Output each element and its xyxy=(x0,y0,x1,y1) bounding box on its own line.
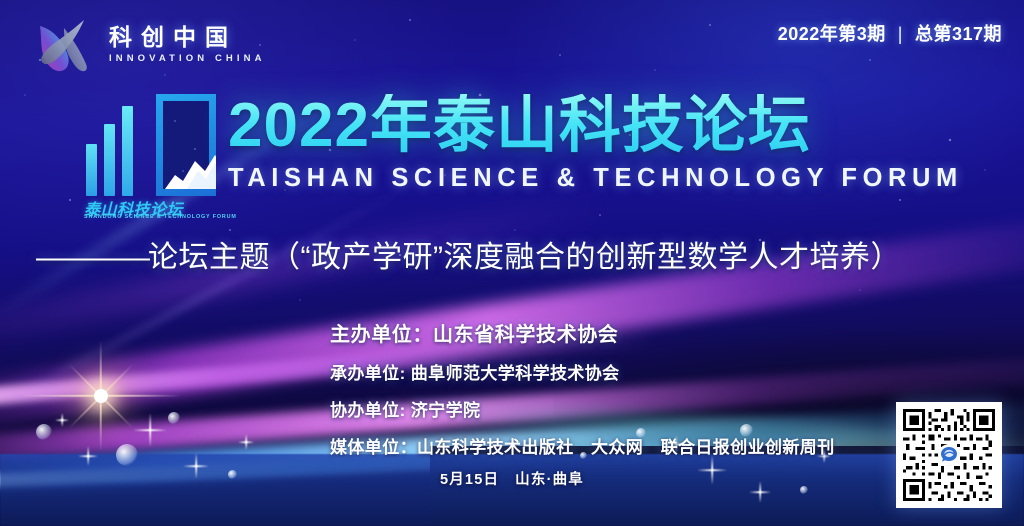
taishan-forum-emblem-icon: 泰山科技论坛 SHANDONG SCIENCE & TECHNOLOGY FOR… xyxy=(78,92,218,218)
reflective-water-base xyxy=(0,454,1024,526)
qr-code-image[interactable] xyxy=(903,409,995,501)
title-text-column: 2022年泰山科技论坛 TAISHAN SCIENCE & TECHNOLOGY… xyxy=(228,92,963,193)
organizer-undertaker: 承办单位: 曲阜师范大学科学技术协会 xyxy=(330,359,835,384)
starburst-glow xyxy=(100,395,101,396)
title-block: 泰山科技论坛 SHANDONG SCIENCE & TECHNOLOGY FOR… xyxy=(78,92,963,218)
qr-center-logo-icon xyxy=(938,444,960,466)
event-date: 5月15日 xyxy=(440,472,499,488)
forum-theme: ————论坛主题（“政产学研”深度融合的创新型数学人才培养） xyxy=(36,232,901,276)
innovation-china-wordmark: 科创中国 INNOVATION CHINA xyxy=(109,26,266,64)
innovation-china-logo: 科创中国 INNOVATION CHINA xyxy=(34,16,266,74)
theme-dash: ———— xyxy=(36,241,148,274)
organizer-list: 主办单位：山东省科学技术协会 承办单位: 曲阜师范大学科学技术协会 协办单位: … xyxy=(330,318,835,458)
bokeh-dot xyxy=(168,412,180,424)
innovation-china-mark-icon xyxy=(34,16,96,74)
innovation-china-cn: 科创中国 xyxy=(109,26,266,49)
innovation-china-en: INNOVATION CHINA xyxy=(109,54,266,64)
issue-separator: | xyxy=(898,24,903,45)
organizer-host: 主办单位：山东省科学技术协会 xyxy=(330,318,835,347)
emblem-bars xyxy=(86,100,133,196)
theme-text: 论坛主题（“政产学研”深度融合的创新型数学人才培养） xyxy=(148,241,901,274)
poster-canvas: 2022年第3期|总第317期 科创中国 INNOVATION CH xyxy=(0,0,1024,526)
emblem-name-en: SHANDONG SCIENCE & TECHNOLOGY FORUM xyxy=(84,214,237,220)
event-location: 山东·曲阜 xyxy=(515,472,584,488)
event-footer: 5月15日山东·曲阜 xyxy=(0,468,1024,489)
organizer-co-organizer: 协办单位: 济宁学院 xyxy=(330,396,835,421)
bokeh-dot xyxy=(36,424,52,440)
emblem-window xyxy=(156,94,216,196)
issue-number: 2022年第3期|总第317期 xyxy=(778,20,1002,46)
page-title-cn: 2022年泰山科技论坛 xyxy=(228,94,963,157)
issue-period: 2022年第3期 xyxy=(778,24,886,44)
page-title-en: TAISHAN SCIENCE & TECHNOLOGY FORUM xyxy=(228,164,963,193)
organizer-media: 媒体单位：山东科学技术出版社 大众网 联合日报创业创新周刊 xyxy=(330,433,835,458)
qr-code-card[interactable] xyxy=(896,402,1002,508)
issue-total: 总第317期 xyxy=(915,24,1002,44)
